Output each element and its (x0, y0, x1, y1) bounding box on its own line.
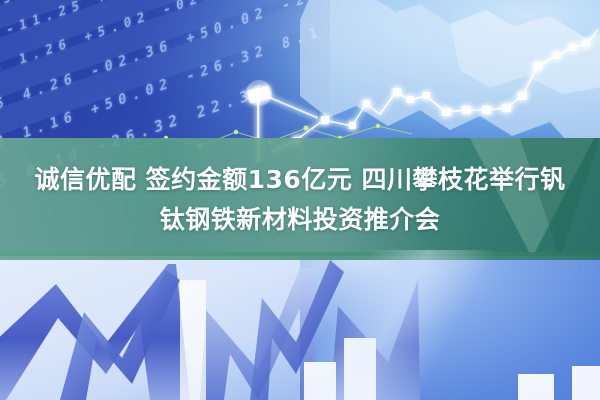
light-beam-overlay (300, 250, 600, 400)
banner-image: +9.02 -02.36 -11.25 21.05 -03.35 -11.25 … (0, 0, 600, 400)
headline-line-2: 钛钢铁新材料投资推介会 (0, 200, 600, 240)
headline-text: 诚信优配 签约金额136亿元 四川攀枝花举行钒 钛钢铁新材料投资推介会 (0, 160, 600, 240)
headline-line-1: 诚信优配 签约金额136亿元 四川攀枝花举行钒 (0, 160, 600, 200)
